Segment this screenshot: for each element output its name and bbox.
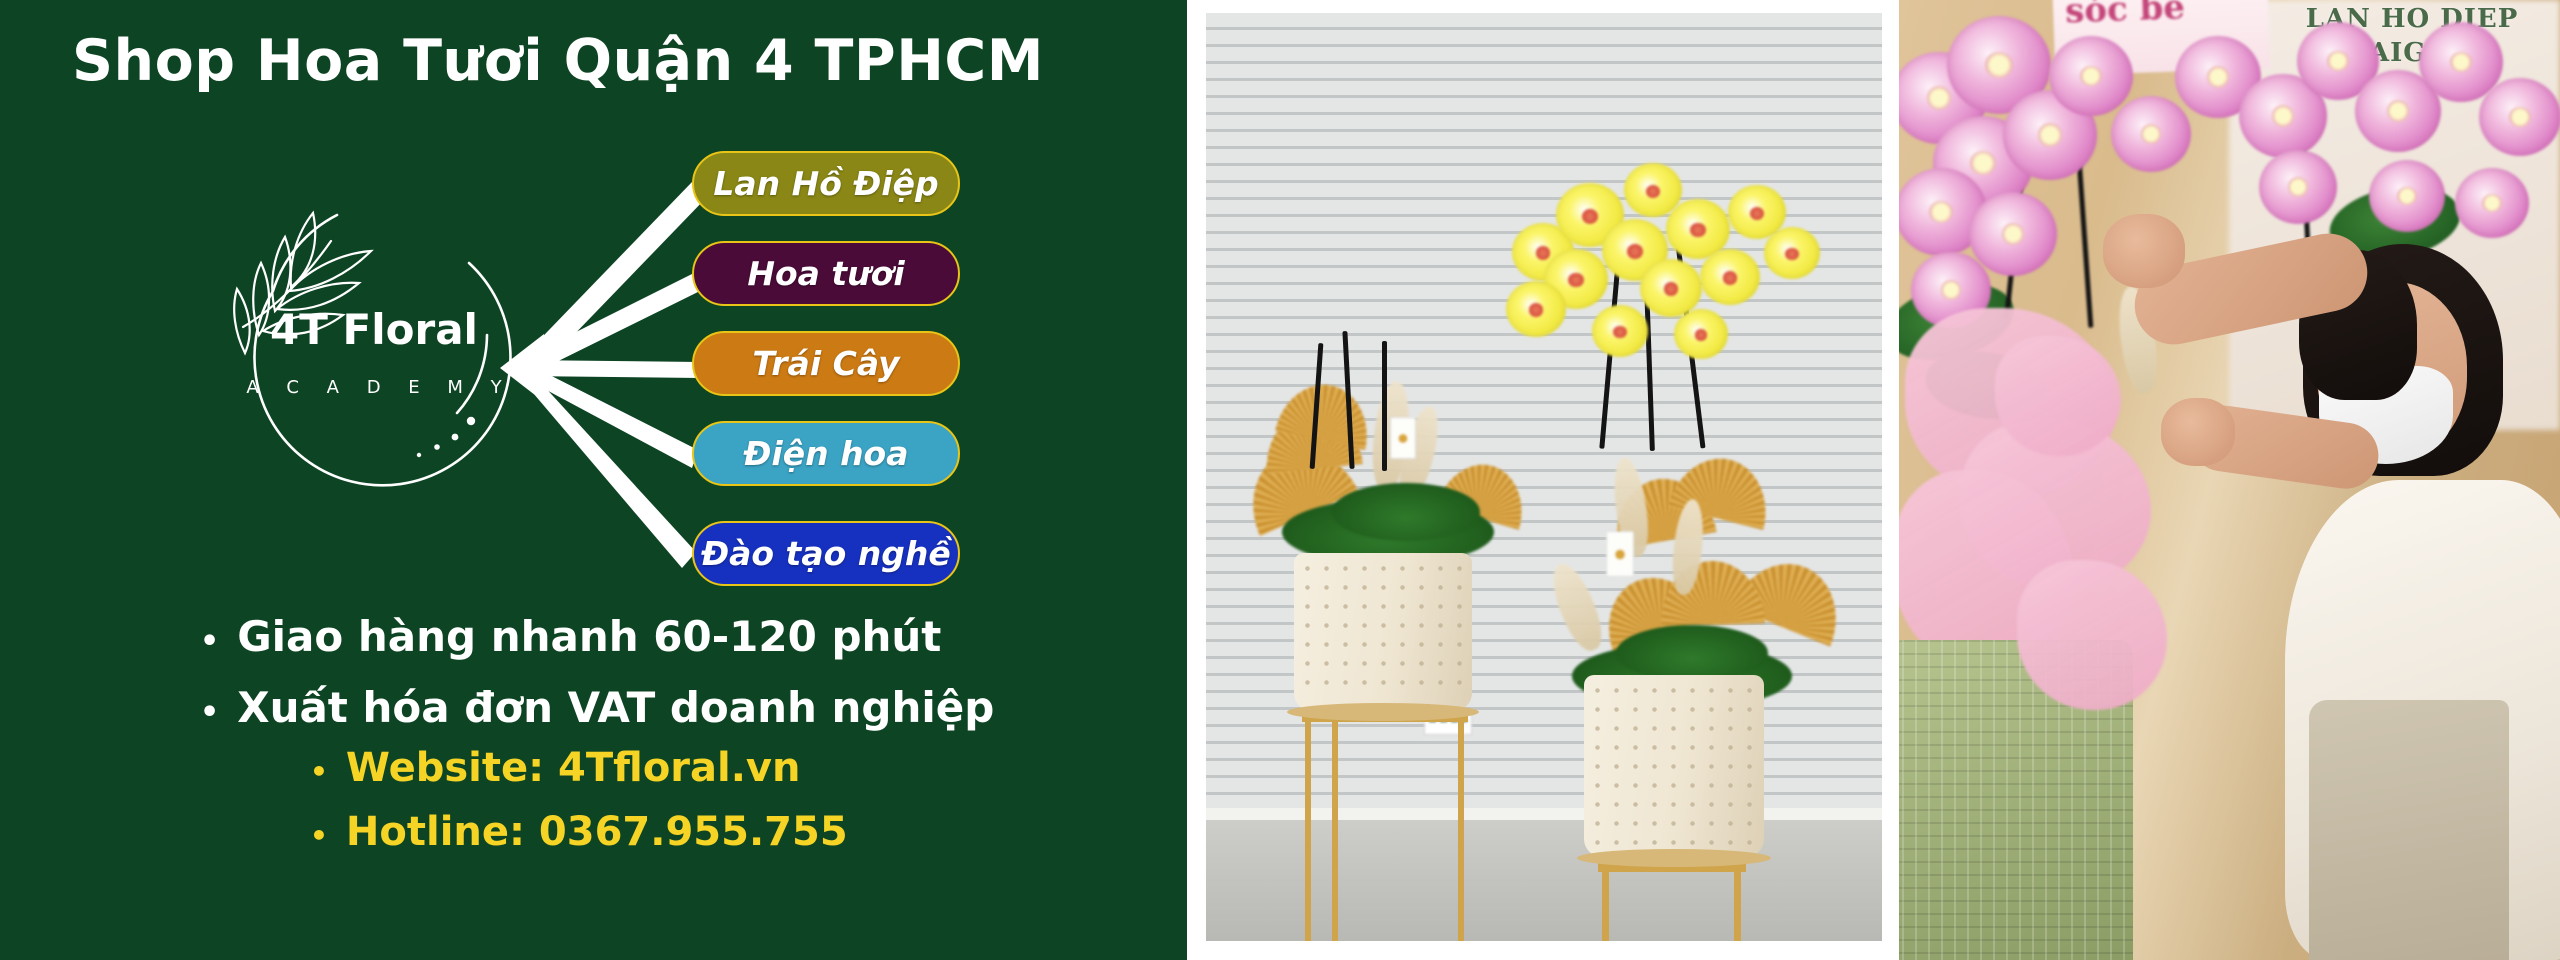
service-pill-hoa-tuoi[interactable]: Hoa tươi xyxy=(692,241,960,306)
service-pill-dao-tao-nghe[interactable]: Đào tạo nghề xyxy=(692,521,960,586)
logo-name: 4T Floral xyxy=(219,305,529,354)
price-tag xyxy=(1606,531,1634,577)
orchid-stem xyxy=(1382,341,1387,471)
shop-sign-text: sóc bé xyxy=(2064,0,2185,31)
service-pill-trai-cay[interactable]: Trái Cây xyxy=(692,331,960,396)
plant-stand-left xyxy=(1305,719,1311,941)
contact-item-website[interactable]: • Website: 4Tfloral.vn xyxy=(310,745,848,791)
orchid-bloom xyxy=(1674,309,1728,359)
ceramic-pot-right xyxy=(1584,675,1764,857)
bullet-icon: • xyxy=(310,758,328,786)
price-tag xyxy=(1390,417,1416,459)
pink-orchid-bloom xyxy=(2259,150,2337,224)
florist-hand xyxy=(2103,214,2185,288)
florist-hand xyxy=(2161,398,2235,466)
plant-stand-left xyxy=(1332,719,1338,941)
green-foliage xyxy=(1332,483,1480,541)
green-foliage xyxy=(1616,625,1768,681)
florist-photo: sóc bé LAN HO DIEP SAIGON xyxy=(1899,0,2560,960)
orchid-arrangement-photo-image xyxy=(1206,13,1882,941)
contact-text: Hotline: 0367.955.755 xyxy=(346,809,848,855)
feature-item: • Xuất hóa đơn VAT doanh nghiệp xyxy=(200,683,994,732)
feature-text: Xuất hóa đơn VAT doanh nghiệp xyxy=(237,683,994,732)
bullet-icon: • xyxy=(200,627,219,657)
orchid-bloom xyxy=(1764,227,1820,279)
feature-list: • Giao hàng nhanh 60-120 phút • Xuất hóa… xyxy=(200,612,994,754)
brand-logo: 4T Floral A C A D E M Y xyxy=(219,185,529,495)
bullet-icon: • xyxy=(310,822,328,850)
pot-dot-texture xyxy=(1298,559,1468,699)
feature-item: • Giao hàng nhanh 60-120 phút xyxy=(200,612,994,661)
florist-apron xyxy=(2309,700,2509,960)
plant-stand-left xyxy=(1458,719,1464,941)
service-pill-label: Trái Cây xyxy=(752,344,899,383)
ceramic-pot-left xyxy=(1294,553,1472,711)
service-pill-lan-ho-diep[interactable]: Lan Hồ Điệp xyxy=(692,151,960,216)
contact-list: • Website: 4Tfloral.vn • Hotline: 0367.9… xyxy=(310,745,848,873)
info-panel: Shop Hoa Tươi Quận 4 TPHCM xyxy=(0,0,1187,960)
pink-orchid-bloom xyxy=(2049,36,2133,116)
orchid-bloom xyxy=(1700,249,1760,305)
pink-orchid-bloom xyxy=(1969,192,2057,276)
pink-orchid-bloom xyxy=(2111,96,2191,172)
service-pill-dien-hoa[interactable]: Điện hoa xyxy=(692,421,960,486)
service-pill-label: Hoa tươi xyxy=(747,254,904,293)
pot-dot-texture xyxy=(1588,681,1760,845)
service-pill-label: Đào tạo nghề xyxy=(701,534,951,573)
promo-banner: Shop Hoa Tươi Quận 4 TPHCM xyxy=(0,0,2560,960)
orchid-bloom xyxy=(1592,305,1648,357)
contact-text: Website: 4Tfloral.vn xyxy=(346,745,801,791)
orchid-bloom xyxy=(1640,259,1702,317)
orchid-bloom xyxy=(1506,281,1566,337)
service-pill-label: Điện hoa xyxy=(744,434,909,473)
pink-orchid-bloom xyxy=(2455,168,2529,238)
pink-orchid-bloom xyxy=(2369,160,2445,232)
feature-text: Giao hàng nhanh 60-120 phút xyxy=(237,612,941,661)
pink-orchid-bloom xyxy=(2479,78,2560,156)
plant-stand-right xyxy=(1734,869,1741,941)
logo-subtitle: A C A D E M Y xyxy=(219,377,529,398)
bullet-icon: • xyxy=(200,698,219,728)
plant-stand-right xyxy=(1602,869,1609,941)
contact-item-hotline[interactable]: • Hotline: 0367.955.755 xyxy=(310,809,848,855)
service-pill-label: Lan Hồ Điệp xyxy=(713,164,938,203)
page-title: Shop Hoa Tươi Quận 4 TPHCM xyxy=(72,28,1044,94)
orchid-arrangement-photo xyxy=(1187,0,1899,960)
